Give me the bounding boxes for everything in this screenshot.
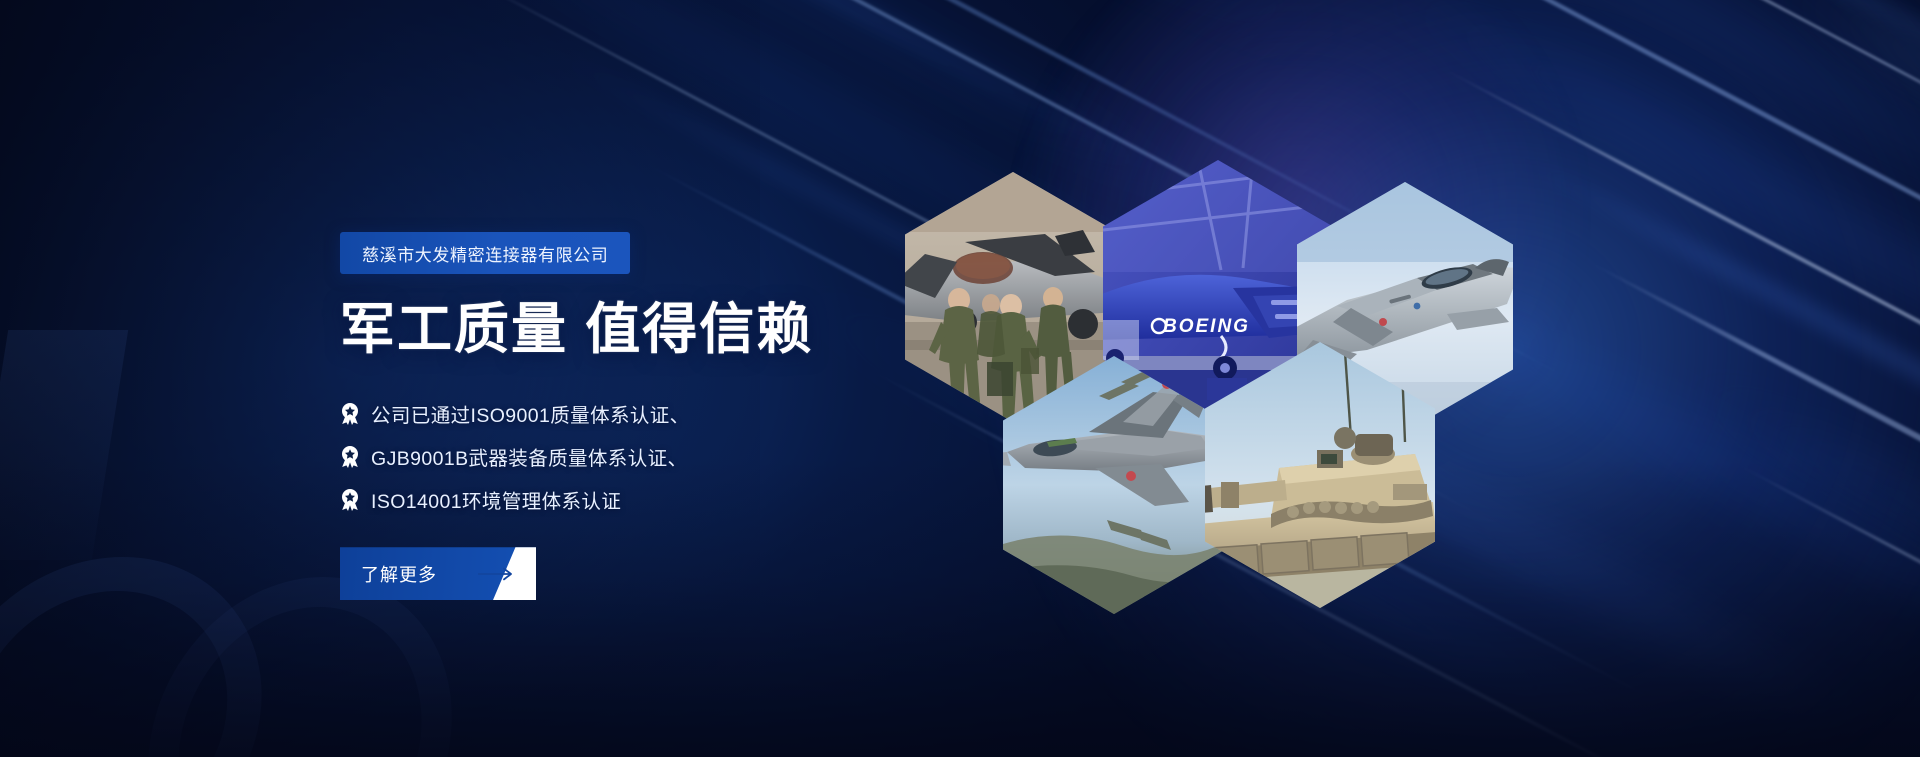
medal-icon [340,446,360,468]
learn-more-label: 了解更多 [361,547,437,600]
medal-icon [340,489,360,511]
list-item: GJB9001B武器装备质量体系认证、 [340,435,1020,478]
list-item: ISO14001环境管理体系认证 [340,478,1020,521]
learn-more-button[interactable]: 了解更多 [340,547,536,600]
list-item: 公司已通过ISO9001质量体系认证、 [340,392,1020,435]
company-name-text: 慈溪市大发精密连接器有限公司 [362,241,608,266]
list-item-label: GJB9001B武器装备质量体系认证、 [371,442,687,471]
page-title: 军工质量 值得信赖 [340,300,1020,358]
certification-list: 公司已通过ISO9001质量体系认证、 GJB9001B武器装备质量体系认证、 [340,392,1020,521]
hero-banner: BOEING [0,0,1920,757]
hero-content: 慈溪市大发精密连接器有限公司 军工质量 值得信赖 公司已通过ISO9001质量体… [340,232,1020,600]
company-name-badge: 慈溪市大发精密连接器有限公司 [340,232,630,274]
svg-text:BOEING: BOEING [1163,316,1250,337]
medal-icon [340,403,360,425]
list-item-label: ISO14001环境管理体系认证 [371,485,621,514]
list-item-label: 公司已通过ISO9001质量体系认证、 [371,399,690,428]
arrow-right-icon [478,547,516,600]
